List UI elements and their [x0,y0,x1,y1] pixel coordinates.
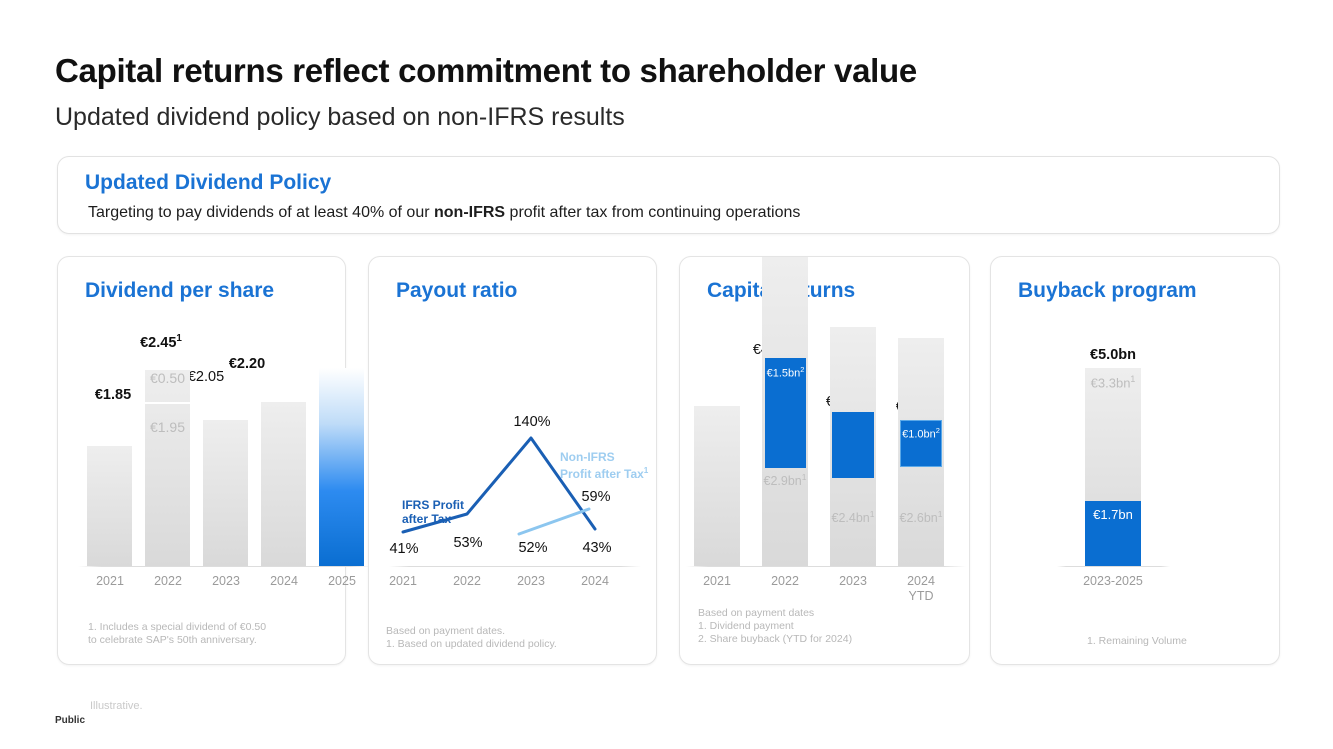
point-label-ifrs-2022: 53% [438,535,498,551]
x-tick-2024: 2024 [254,574,314,589]
bar-value-2024: €2.20 [216,356,278,372]
footnote-marker-2: 2 [936,426,940,435]
x-tick-2021: 2021 [373,574,433,589]
bar-segment-label-dividend-2022: €2.9bn1 [755,472,815,488]
bar-2023 [203,420,248,566]
footnote-marker-1: 1 [802,472,807,482]
slide-root: Capital returns reflect commitment to sh… [0,0,1333,749]
x-tick-2021: 2021 [687,574,747,589]
card-footnote-buyback-program: 1. Remaining Volume [1087,635,1267,648]
bar-segment-executed: €1.7bn [1085,501,1141,566]
bar-value-2021: €1.85 [85,387,141,403]
policy-text-bold: non-IFRS [434,204,505,221]
series-label-ifrs-profit: IFRS Profit after Tax [402,498,492,526]
x-tick-2024-ytd: 2024 YTD [891,574,951,604]
bar-segment-label-remaining-volume: €3.3bn1 [1085,374,1141,390]
x-tick-2022: 2022 [138,574,198,589]
x-tick-2024: 2024 [565,574,625,589]
bar-segment-buyback-2022: €1.5bn2 [765,358,806,468]
chart-capital-returns: €2.2bn €4.4bn €3.3bn €3.2bn €1.5bn2 €2.9… [680,257,971,597]
card-dividend-per-share: Dividend per share €1.85 €2.451 €2.05 €2… [57,256,346,665]
bar-segment-label-buyback-2024: €1.0bn2 [901,426,941,441]
point-label-ifrs-2021: 41% [374,541,434,557]
x-tick-2025: 2025 [312,574,372,589]
point-label-non-ifrs-2024: 59% [566,489,626,505]
bar-value-2022: €2.451 [125,333,197,351]
x-axis-line [1057,566,1170,567]
x-tick-2021: 2021 [80,574,140,589]
series-label-non-ifrs-profit: Non-IFRS Profit after Tax1 [560,450,660,481]
point-label-non-ifrs-2023: 52% [503,540,563,556]
bar-segment-buyback-2023 [832,412,874,478]
bar-segment-label-dividend-2023: €2.4bn1 [823,509,883,525]
card-buyback-program: Buyback program €5.0bn €3.3bn1 €1.7bn 20… [990,256,1280,665]
card-payout-ratio: Payout ratio IFRS Profit after Tax Non-I… [368,256,657,665]
bar-segment-label-dividend-2024: €2.6bn1 [891,509,951,525]
policy-description: Targeting to pay dividends of at least 4… [88,204,800,222]
footnote-marker-1: 1 [644,466,649,475]
x-tick-2023-2025: 2023-2025 [1053,574,1173,589]
bar-segment-label-executed: €1.7bn [1085,507,1141,522]
bar-2021 [694,406,740,566]
bar-2025-projected [319,368,364,566]
policy-text-after: profit after tax from continuing operati… [505,204,800,221]
line-series-non-ifrs-profit [519,509,589,534]
bar-segment-label-regular-dividend: €1.95 [133,419,202,435]
chart-dividend-per-share: €1.85 €2.451 €2.05 €2.20 €0.50 €1.95 202… [58,257,347,587]
chart-payout-ratio: IFRS Profit after Tax Non-IFRS Profit af… [369,257,658,597]
x-axis-line [78,566,374,567]
bar-segment-divider-2022 [145,402,190,404]
x-tick-2022: 2022 [755,574,815,589]
point-label-ifrs-2023: 140% [499,414,565,430]
bar-2021 [87,446,132,566]
dividend-policy-banner: Updated Dividend Policy Targeting to pay… [57,156,1280,234]
footnote-marker-1: 1 [176,333,181,344]
illustrative-note: Illustrative. [90,700,143,712]
bar-2024 [261,402,306,566]
card-footnote-payout-ratio: Based on payment dates. 1. Based on upda… [386,625,646,651]
x-tick-2022: 2022 [437,574,497,589]
footnote-marker-1: 1 [870,509,875,519]
x-axis-line [686,566,966,567]
bar-total-buyback: €5.0bn [1068,347,1158,363]
card-footnote-dividend-per-share: 1. Includes a special dividend of €0.50 … [88,621,336,647]
footnote-marker-2: 2 [800,365,804,374]
page-subtitle: Updated dividend policy based on non-IFR… [55,103,625,132]
card-footnote-capital-returns: Based on payment dates 1. Dividend payme… [698,607,960,646]
x-tick-2023: 2023 [196,574,256,589]
x-tick-2023: 2023 [501,574,561,589]
page-title: Capital returns reflect commitment to sh… [55,52,917,90]
x-tick-2023: 2023 [823,574,883,589]
bar-2022: €0.50 €1.95 [145,370,190,566]
policy-text-before: Targeting to pay dividends of at least 4… [88,204,434,221]
chart-buyback-program: €5.0bn €3.3bn1 €1.7bn 2023-2025 [991,257,1281,597]
bar-segment-buyback-2024: €1.0bn2 [900,420,942,467]
footnote-marker-1: 1 [1130,374,1135,384]
footnote-marker-1: 1 [938,509,943,519]
card-capital-returns: Capital returns €2.2bn €4.4bn €3.3bn €3.… [679,256,970,665]
x-axis-line [389,566,641,567]
bar-segment-label-special-dividend: €0.50 [133,370,202,386]
point-label-ifrs-2024: 43% [567,540,627,556]
bar-segment-label-buyback-2022: €1.5bn2 [765,365,806,380]
classification-label: Public [55,715,85,726]
policy-title: Updated Dividend Policy [85,171,331,195]
